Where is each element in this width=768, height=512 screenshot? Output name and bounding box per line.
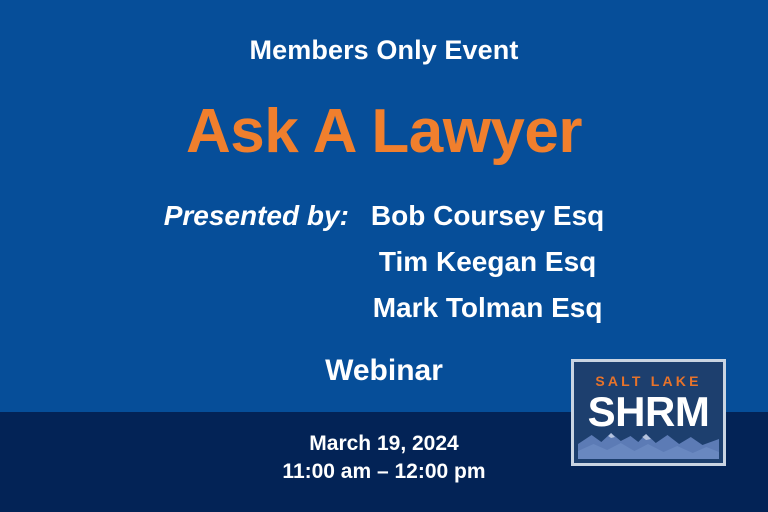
salt-lake-shrm-logo: SALT LAKE SHRM bbox=[571, 359, 726, 466]
event-kicker: Members Only Event bbox=[0, 33, 768, 67]
logo-inner-panel: SALT LAKE SHRM bbox=[578, 366, 719, 459]
event-title: Ask A Lawyer bbox=[0, 97, 768, 167]
event-promo-graphic: Members Only Event Ask A Lawyer Presente… bbox=[0, 0, 768, 512]
presenter-list: Bob Coursey Esq Tim Keegan Esq Mark Tolm… bbox=[371, 193, 604, 331]
list-item: Tim Keegan Esq bbox=[379, 239, 596, 285]
list-item: Mark Tolman Esq bbox=[373, 285, 603, 331]
list-item: Bob Coursey Esq bbox=[371, 193, 604, 239]
presented-by-label: Presented by: bbox=[164, 193, 371, 239]
logo-top-text: SALT LAKE bbox=[578, 373, 719, 389]
logo-main-text: SHRM bbox=[578, 388, 719, 436]
presenters-block: Presented by: Bob Coursey Esq Tim Keegan… bbox=[0, 193, 768, 331]
